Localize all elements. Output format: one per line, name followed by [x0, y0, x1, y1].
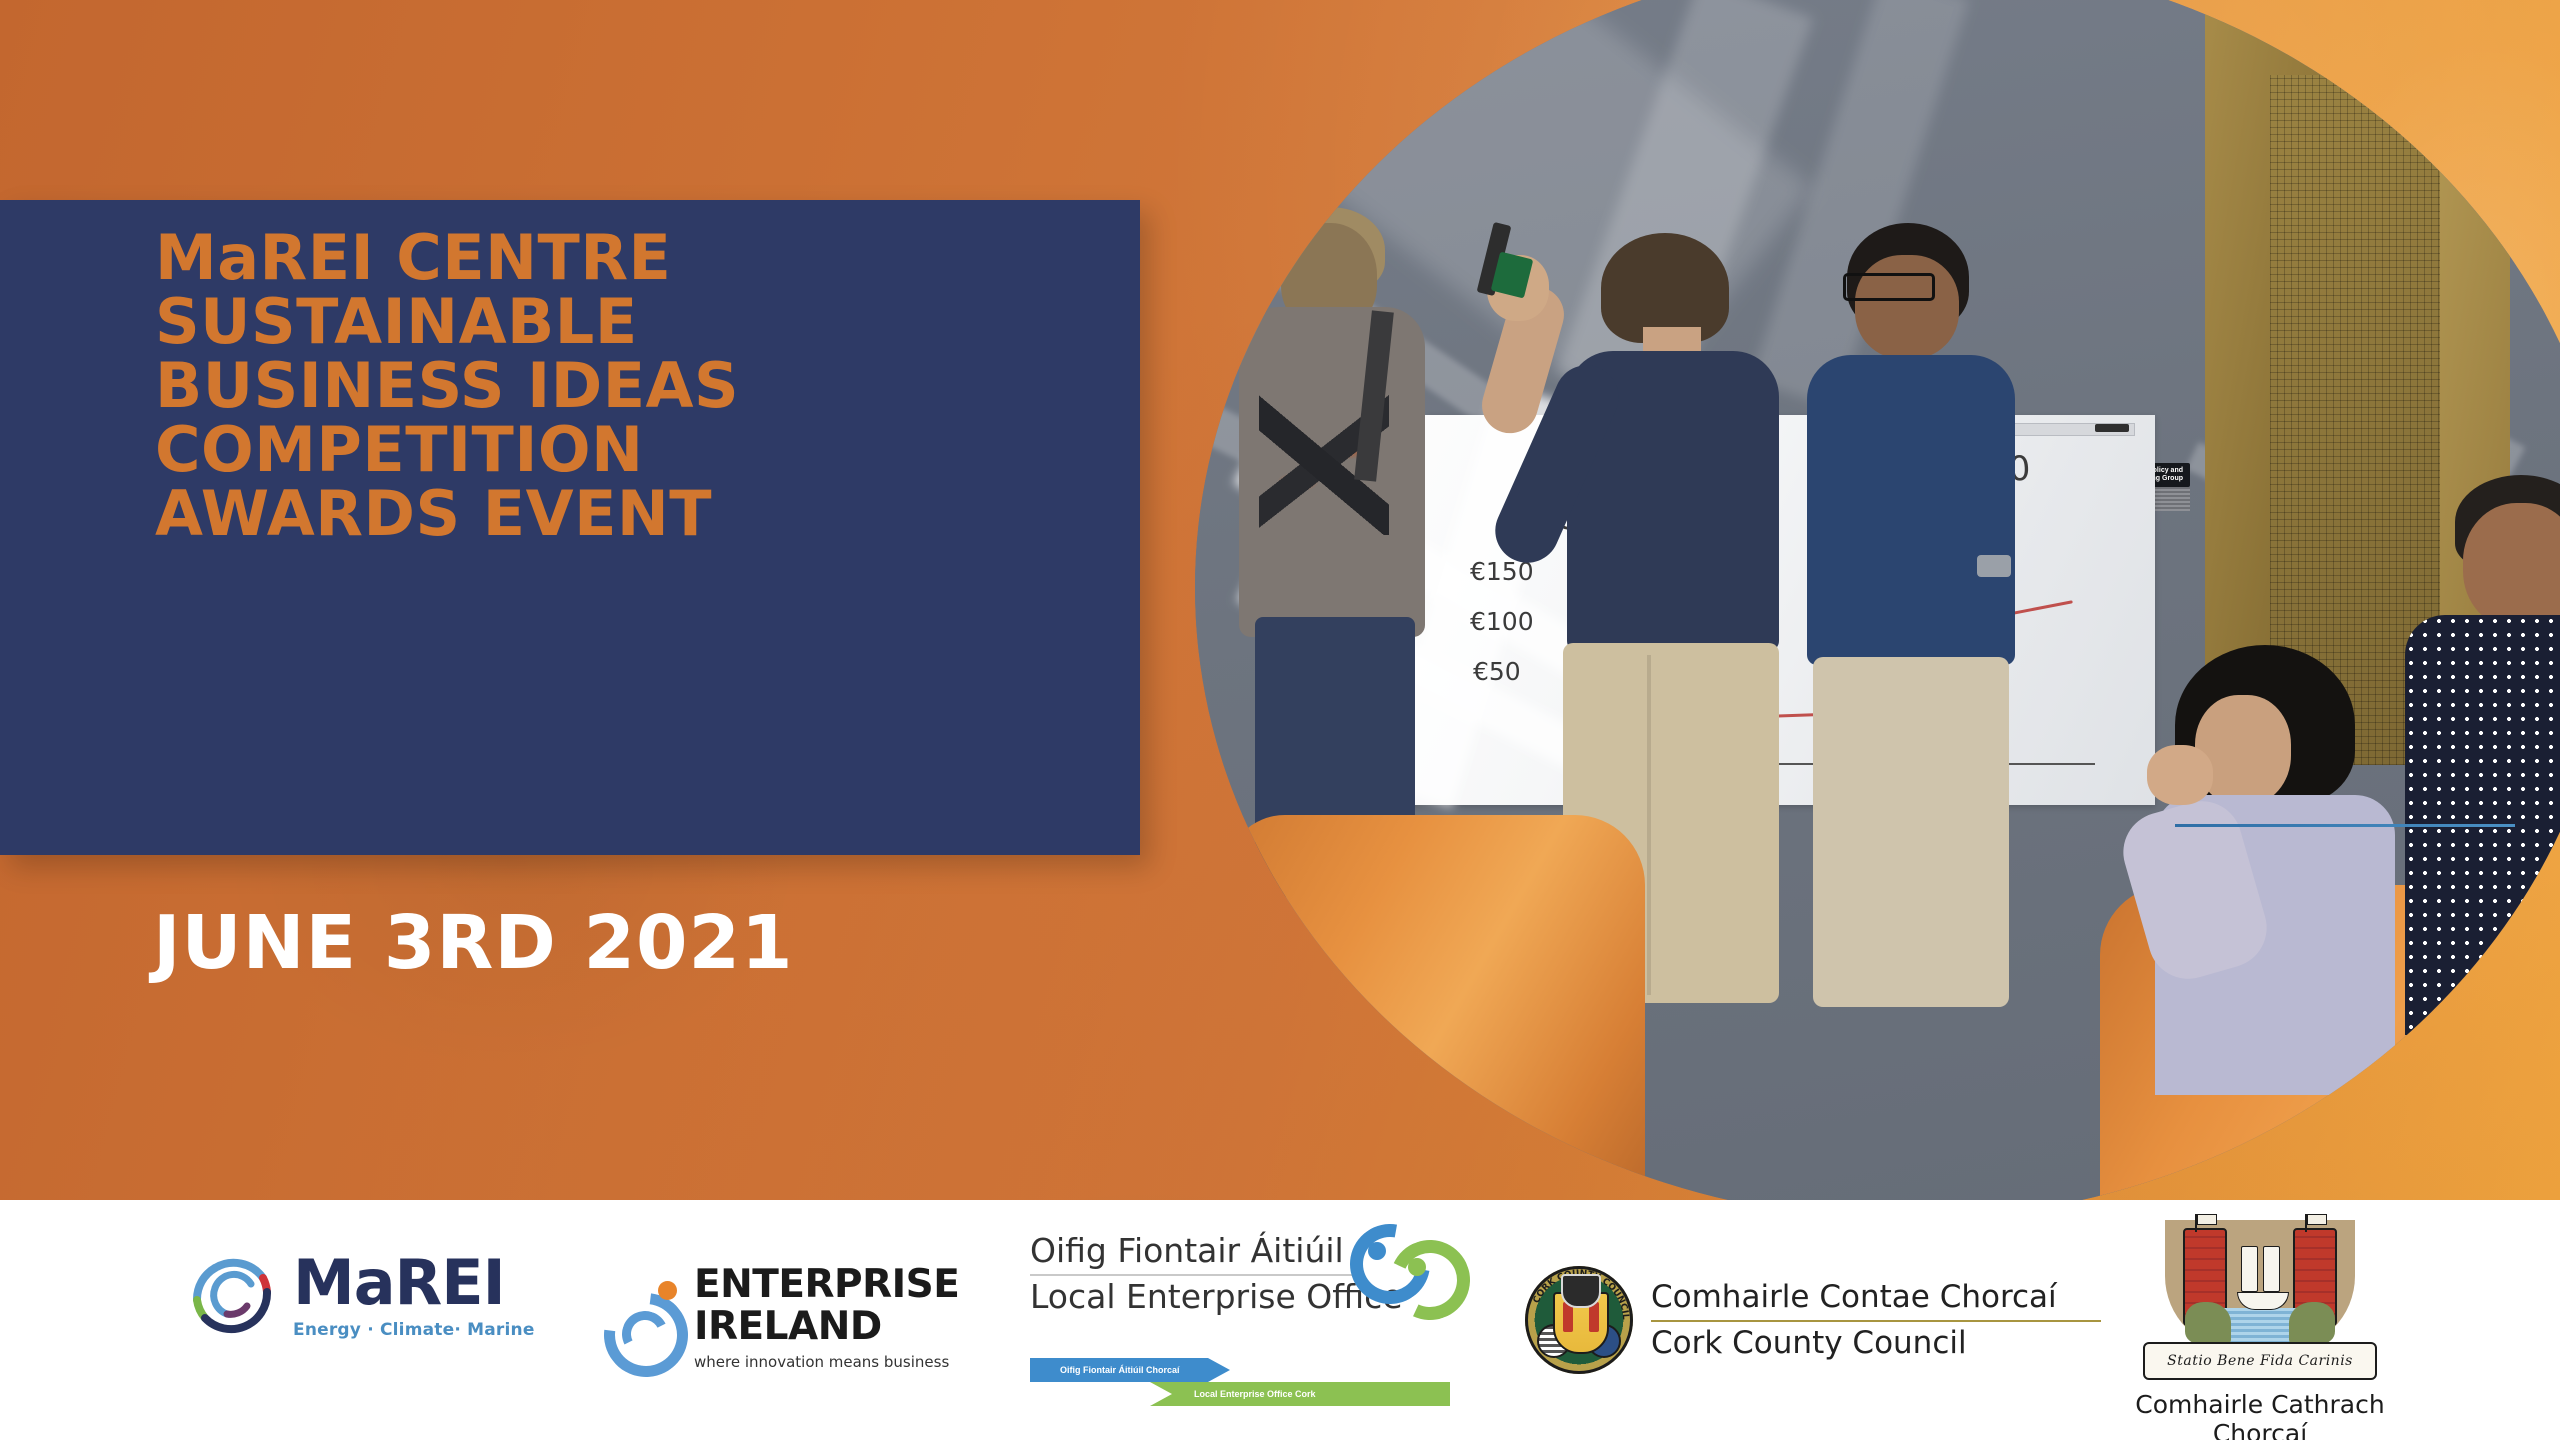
torso: [1807, 355, 2015, 665]
leo-circles-icon: [1350, 1224, 1450, 1298]
headline-line-4: COMPETITION: [155, 418, 1105, 482]
ccc-divider: [1651, 1320, 2101, 1322]
leo-banner-group: Oifig Fiontair Áitiúil Chorcaí Local Ent…: [1030, 1358, 1450, 1412]
event-poster: G.22 Energy Policy and Modelling Group C…: [0, 0, 2560, 1440]
rocks-left: [2185, 1302, 2231, 1344]
photo-content: G.22 Energy Policy and Modelling Group C…: [1195, 0, 2560, 1220]
logo-local-enterprise-office: Oifig Fiontair Áitiúil Local Enterprise …: [1030, 1234, 1450, 1412]
whiteboard-tick-label: €100: [1470, 607, 1534, 636]
marei-wordmark: MaREI: [293, 1252, 535, 1314]
trouser-crease: [1647, 655, 1651, 995]
marei-text: MaREI Energy · Climate· Marine: [293, 1252, 535, 1340]
whiteboard-tick-label: €50: [1473, 657, 1521, 686]
logo-marei: MaREI Energy · Climate· Marine: [185, 1248, 535, 1344]
enterprise-ireland-text: ENTERPRISE IRELAND where innovation mean…: [694, 1264, 959, 1371]
hand: [2147, 745, 2213, 805]
whiteboard-marker: [2095, 424, 2129, 432]
headline-line-3: BUSINESS IDEAS: [155, 354, 1105, 418]
logo-cork-county-council: CORK COUNTY COUNCIL Comhairle Contae Cho…: [1525, 1266, 2101, 1374]
ei-tagline: where innovation means business: [694, 1353, 959, 1371]
ei-line-1: ENTERPRISE: [694, 1264, 959, 1306]
marei-tagline: Energy · Climate· Marine: [293, 1320, 535, 1340]
orange-armchair: [1225, 815, 1645, 1220]
wristwatch: [1977, 555, 2011, 577]
motto-text: Statio Bene Fida Carinis: [2167, 1353, 2353, 1369]
ei-line-2: IRELAND: [694, 1306, 959, 1348]
leo-divider: [1030, 1274, 1360, 1276]
face: [1855, 255, 1959, 359]
orange-dot-icon: [658, 1281, 677, 1300]
headline-line-5: AWARDS EVENT: [155, 482, 1105, 546]
ship: [2239, 1238, 2283, 1316]
cork-city-coat-of-arms-icon: [2165, 1220, 2355, 1350]
team-photo-circle: G.22 Energy Policy and Modelling Group C…: [1195, 0, 2560, 1220]
motto-scroll: Statio Bene Fida Carinis: [2143, 1342, 2377, 1380]
glasses-icon: [1843, 273, 1935, 301]
logo-cork-city-council: Statio Bene Fida Carinis Comhairle Cathr…: [2095, 1220, 2425, 1440]
sail: [2241, 1246, 2258, 1292]
enterprise-ireland-spiral-icon: [600, 1279, 686, 1357]
blue-accent-line: [2175, 824, 2515, 827]
ccc-line-2: Cork County Council: [1651, 1326, 2101, 1360]
leo-blue-dot: [1368, 1242, 1386, 1260]
headline-line-2: SUSTAINABLE: [155, 290, 1105, 354]
headline-line-1: MaREI CENTRE: [155, 226, 1105, 290]
seal-shield: [1561, 1274, 1601, 1308]
cork-county-seal-icon: CORK COUNTY COUNCIL: [1525, 1266, 1633, 1374]
leo-banner-english: Local Enterprise Office Cork: [1150, 1382, 1450, 1406]
logo-enterprise-ireland: ENTERPRISE IRELAND where innovation mean…: [600, 1264, 959, 1371]
cork-county-text: Comhairle Contae Chorcaí Cork County Cou…: [1651, 1280, 2101, 1359]
marei-swirl-svg: [185, 1248, 281, 1344]
event-date: JUNE 3RD 2021: [153, 900, 793, 986]
rocks-right: [2289, 1302, 2335, 1344]
cork-city-line-1: Comhairle Cathrach Chorcaí: [2095, 1390, 2425, 1440]
head: [2463, 503, 2560, 629]
leo-green-dot: [1408, 1258, 1426, 1276]
leo-top-block: Oifig Fiontair Áitiúil Local Enterprise …: [1030, 1234, 1450, 1352]
headline-panel: MaREI CENTRE SUSTAINABLE BUSINESS IDEAS …: [0, 200, 1140, 855]
page-title: MaREI CENTRE SUSTAINABLE BUSINESS IDEAS …: [155, 226, 1105, 546]
marei-swirl-icon: [185, 1248, 281, 1344]
sponsor-logo-bar: MaREI Energy · Climate· Marine ENTERPRIS…: [0, 1200, 2560, 1440]
ccc-line-1: Comhairle Contae Chorcaí: [1651, 1280, 2101, 1314]
trousers: [1813, 657, 2009, 1007]
hull: [2237, 1292, 2289, 1310]
sail: [2263, 1246, 2280, 1292]
leo-banner-irish: Oifig Fiontair Áitiúil Chorcaí: [1030, 1358, 1230, 1382]
